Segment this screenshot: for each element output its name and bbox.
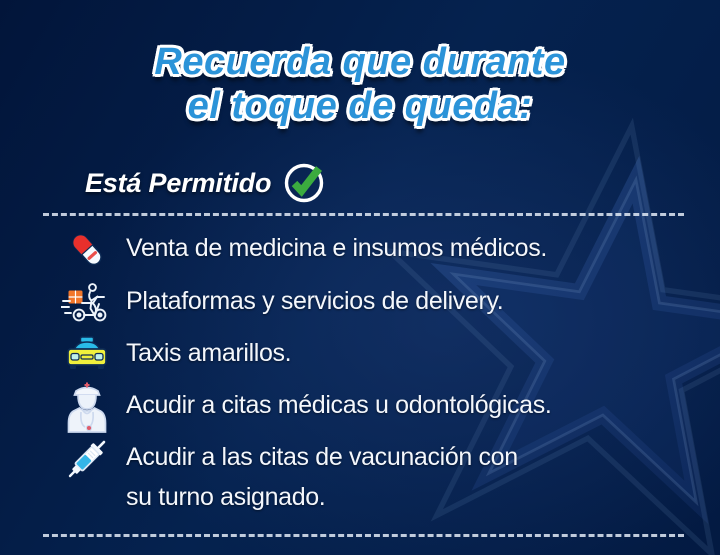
list-item-text: Taxis amarillos. xyxy=(126,331,708,369)
title-line-1: Recuerda que durante xyxy=(0,42,720,82)
divider-top xyxy=(43,213,684,216)
green-check-circle-icon xyxy=(281,160,327,206)
list-item: Taxis amarillos. xyxy=(48,331,708,379)
list-item-text: Acudir a las citas de vacunación con su … xyxy=(126,435,708,513)
list-item-text: Plataformas y servicios de delivery. xyxy=(126,279,708,317)
poster-title: Recuerda que durante el toque de queda: xyxy=(0,42,720,127)
list-item: Venta de medicina e insumos médicos. xyxy=(48,226,708,274)
list-item-line: Venta de medicina e insumos médicos. xyxy=(126,232,708,264)
nurse-icon xyxy=(48,383,126,431)
list-item-line: Acudir a las citas de vacunación con xyxy=(126,441,708,473)
list-item-line: Plataformas y servicios de delivery. xyxy=(126,285,708,317)
subtitle-label: Está Permitido xyxy=(85,168,271,199)
divider-bottom xyxy=(43,534,684,537)
subtitle-row: Está Permitido xyxy=(85,160,327,206)
yellow-taxi-icon xyxy=(48,331,126,379)
list-item-line: su turno asignado. xyxy=(126,481,708,513)
list-item: Acudir a citas médicas u odontológicas. xyxy=(48,383,708,431)
list-item-text: Acudir a citas médicas u odontológicas. xyxy=(126,383,708,421)
list-item: Acudir a las citas de vacunación con su … xyxy=(48,435,708,513)
title-line-2: el toque de queda: xyxy=(0,86,720,126)
allowed-activities-list: Venta de medicina e insumos médicos. xyxy=(48,226,708,513)
list-item-text: Venta de medicina e insumos médicos. xyxy=(126,226,708,264)
list-item: Plataformas y servicios de delivery. xyxy=(48,279,708,327)
delivery-scooter-icon xyxy=(48,279,126,327)
pill-capsule-icon xyxy=(48,226,126,274)
syringe-icon xyxy=(48,435,126,483)
list-item-line: Taxis amarillos. xyxy=(126,337,708,369)
list-item-line: Acudir a citas médicas u odontológicas. xyxy=(126,389,708,421)
poster-canvas: Recuerda que durante el toque de queda: … xyxy=(0,0,720,555)
